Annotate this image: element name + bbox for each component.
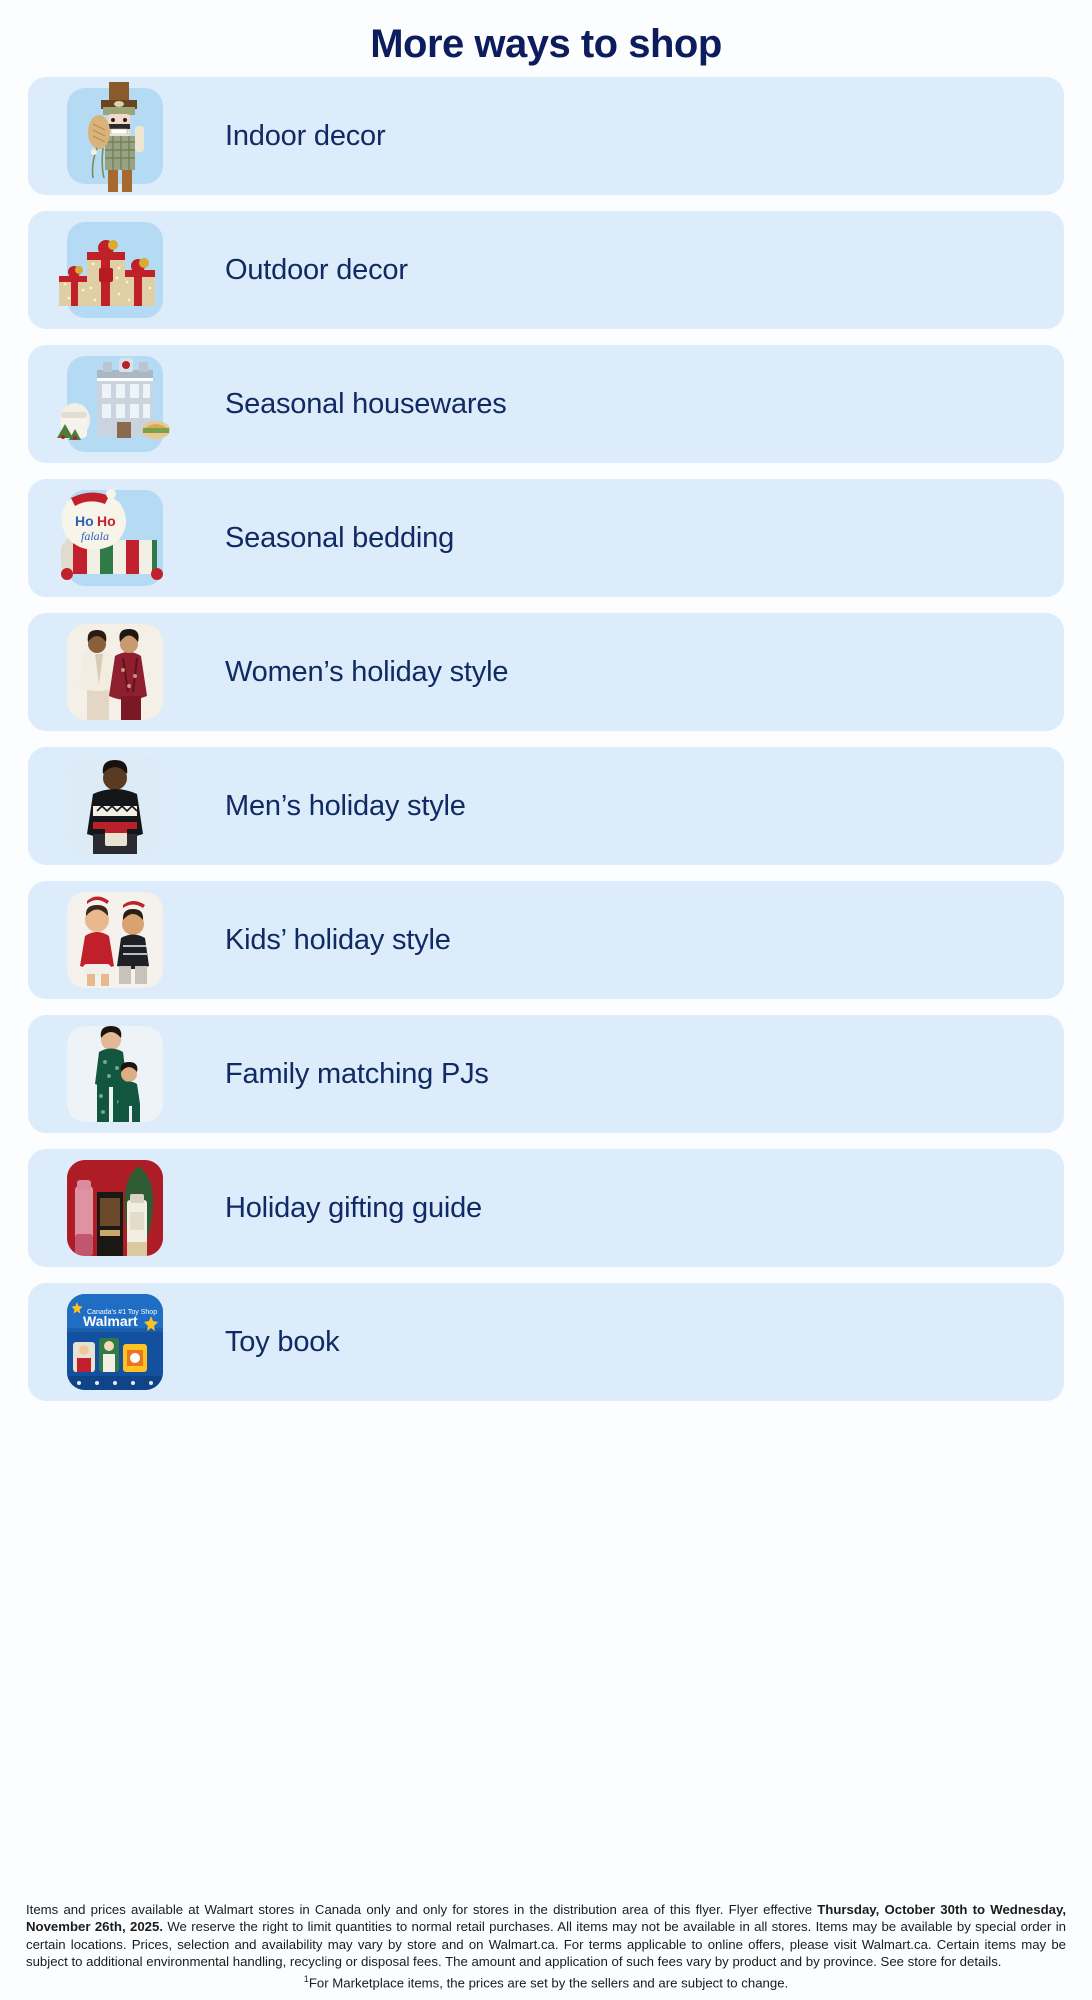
- category-card-mens-holiday-style[interactable]: Men’s holiday style: [28, 747, 1064, 865]
- thumbnail-womens-holiday-style: [67, 624, 163, 720]
- flyer-page: More ways to shop: [0, 0, 1092, 2000]
- category-label: Women’s holiday style: [225, 656, 508, 689]
- footer-text-b: We reserve the right to limit quantities…: [26, 1919, 1066, 1969]
- thumbnail-family-matching-pjs: [67, 1026, 163, 1122]
- category-card-womens-holiday-style[interactable]: Women’s holiday style: [28, 613, 1064, 731]
- thumbnail-seasonal-bedding: Ho Ho falala: [67, 490, 163, 586]
- thumbnail-toy-book: Canada's #1 Toy Shop Walmart: [67, 1294, 163, 1390]
- category-card-family-matching-pjs[interactable]: Family matching PJs: [28, 1015, 1064, 1133]
- category-label: Indoor decor: [225, 120, 385, 153]
- svg-text:Walmart: Walmart: [83, 1313, 138, 1329]
- svg-text:Ho: Ho: [97, 513, 116, 529]
- category-label: Toy book: [225, 1326, 339, 1359]
- lit-gift-boxes-icon: [67, 222, 163, 318]
- category-card-kids-holiday-style[interactable]: Kids’ holiday style: [28, 881, 1064, 999]
- category-card-outdoor-decor[interactable]: Outdoor decor: [28, 211, 1064, 329]
- category-card-list: Indoor decor: [0, 77, 1092, 1401]
- footer-paragraph-marketplace: 1For Marketplace items, the prices are s…: [26, 1971, 1066, 1992]
- page-title: More ways to shop: [0, 0, 1092, 77]
- category-card-holiday-gifting-guide[interactable]: Holiday gifting guide: [28, 1149, 1064, 1267]
- walmart-toy-book-icon: Canada's #1 Toy Shop Walmart: [67, 1294, 163, 1390]
- category-card-seasonal-housewares[interactable]: Seasonal housewares: [28, 345, 1064, 463]
- category-card-indoor-decor[interactable]: Indoor decor: [28, 77, 1064, 195]
- thumbnail-indoor-decor: [67, 88, 163, 184]
- thumbnail-kids-holiday-style: [67, 892, 163, 988]
- two-toddlers-icon: [67, 892, 163, 988]
- gift-sets-icon: [67, 1160, 163, 1256]
- category-label: Seasonal housewares: [225, 388, 507, 421]
- thumbnail-seasonal-housewares: [67, 356, 163, 452]
- thumbnail-holiday-gifting-guide: [67, 1160, 163, 1256]
- thumbnail-outdoor-decor: [67, 222, 163, 318]
- category-label: Kids’ holiday style: [225, 924, 451, 957]
- category-label: Seasonal bedding: [225, 522, 454, 555]
- category-label: Men’s holiday style: [225, 790, 466, 823]
- category-card-seasonal-bedding[interactable]: Ho Ho falala Seasonal bedding: [28, 479, 1064, 597]
- svg-text:falala: falala: [81, 529, 109, 543]
- man-sweater-icon: [67, 758, 163, 854]
- category-label: Holiday gifting guide: [225, 1192, 482, 1225]
- thumbnail-mens-holiday-style: [67, 758, 163, 854]
- family-pajamas-icon: [67, 1026, 163, 1122]
- footer-legal-text: Items and prices available at Walmart st…: [0, 1901, 1092, 1992]
- svg-text:Ho: Ho: [75, 513, 94, 529]
- category-card-toy-book[interactable]: Canada's #1 Toy Shop Walmart: [28, 1283, 1064, 1401]
- footer-paragraph-main: Items and prices available at Walmart st…: [26, 1901, 1066, 1971]
- category-label: Family matching PJs: [225, 1058, 489, 1091]
- footer-text-a: Items and prices available at Walmart st…: [26, 1902, 817, 1917]
- category-label: Outdoor decor: [225, 254, 408, 287]
- nutcracker-icon: [67, 88, 163, 184]
- holiday-pillows-icon: Ho Ho falala: [67, 490, 163, 586]
- footer-marketplace-text: For Marketplace items, the prices are se…: [309, 1975, 788, 1990]
- two-women-outfits-icon: [67, 624, 163, 720]
- christmas-village-house-icon: [67, 356, 163, 452]
